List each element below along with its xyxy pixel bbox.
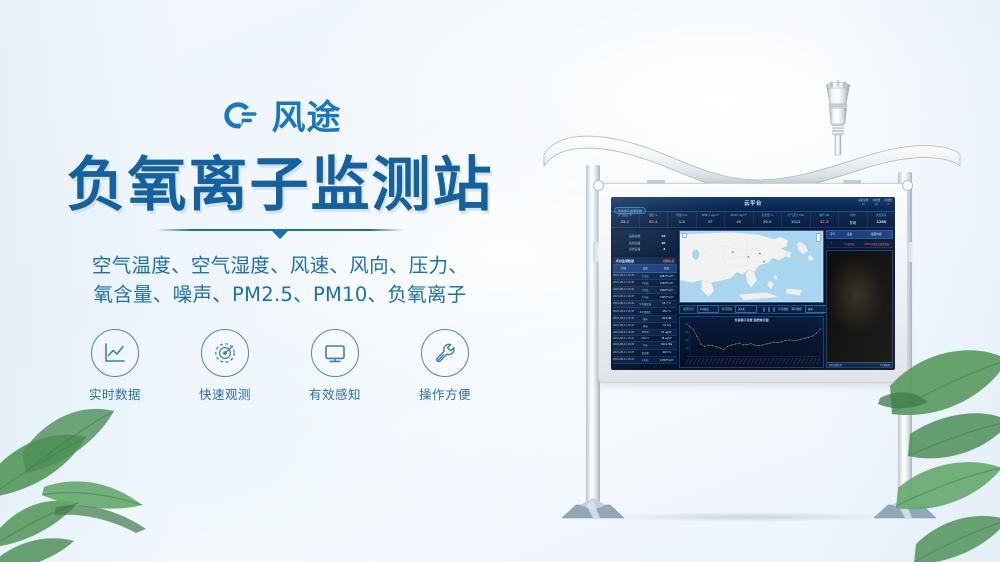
title-divider <box>156 228 404 242</box>
table-cell: 2021-08-11 10:25:02 <box>613 350 634 356</box>
map-zoom-controls[interactable] <box>816 233 821 242</box>
cabinet-hinge-right-icon <box>907 242 913 262</box>
svg-text:08-12 01:00: 08-12 01:00 <box>782 357 787 365</box>
feature-label: 实时数据 <box>84 384 146 403</box>
video-label-right: 1号摄像机 <box>880 363 890 367</box>
dashboard-title: 云平台 <box>744 199 762 207</box>
device-count-value: 2 <box>663 247 665 251</box>
dashboard-header-stats: 设备总数 12 在线数 10 离线数 2 <box>858 199 892 207</box>
dashboard-screen[interactable]: 云平台 设备总数 12 在线数 10 离线数 2 负氧离子监测 <box>611 197 895 370</box>
table-row[interactable]: 2021-08-11 10:35:022号站1194个/cm³ <box>613 280 677 287</box>
table-body[interactable]: 2021-08-11 10:36:021号站1287个/cm³2021-08-1… <box>613 273 677 369</box>
sensor-stat-name: 负氧离子 <box>868 214 896 218</box>
sensor-stat-name: 噪声 dB <box>811 214 839 218</box>
table-cell: 1305个/cm³ <box>656 294 677 300</box>
svg-text:08-11 12:00: 08-11 12:00 <box>732 357 737 365</box>
table-title-bar: 实时监测数据 报警信息 <box>613 257 677 265</box>
table-cell: 1号站 <box>634 294 655 300</box>
map-toolbar[interactable]: 监测点位 1号站点 时间范围 近7天 导出数据 刷新数据 更多 <box>679 305 823 314</box>
sensor-stat-value: 1286 <box>868 220 896 224</box>
china-map[interactable] <box>679 230 823 303</box>
svg-text:08-12 10:00: 08-12 10:00 <box>817 357 822 365</box>
table-cell: 46.8 dB <box>656 316 677 322</box>
svg-text:08-12 08:00: 08-12 08:00 <box>809 357 814 365</box>
cabinet-hinge-left-icon <box>593 242 599 262</box>
alarm-cell: PM10浓度超过报警阈值 <box>861 241 893 247</box>
feature-label: 操作方便 <box>414 384 476 403</box>
feature-circle <box>201 329 249 377</box>
sensor-stat-name: 风向 <box>839 214 867 218</box>
sensor-stat: 空气温度 ℃23.1 <box>611 212 640 227</box>
sensor-stat-name: 氧含量 % <box>754 214 782 218</box>
sensor-stat-value: 48 <box>725 220 753 224</box>
sensor-stat-name: PM2.5 ug/m³ <box>697 214 725 218</box>
svg-text:08-12 06:00: 08-12 06:00 <box>801 357 806 365</box>
table-cell: 3号站 <box>634 287 655 293</box>
svg-text:08-11 22:00: 08-11 22:00 <box>770 357 775 365</box>
header-stat: 在线数 10 <box>872 199 880 207</box>
sensor-stat: 大气压力 hPa1012 <box>782 212 811 227</box>
alarm-table-header: 序号设备报警内容 <box>826 230 893 239</box>
export-action[interactable]: 导出数据 <box>778 307 788 311</box>
svg-text:08-11 01:00: 08-11 01:00 <box>689 357 694 365</box>
svg-text:08-11 07:00: 08-11 07:00 <box>713 357 718 365</box>
svg-text:08-11 09:00: 08-11 09:00 <box>720 357 725 365</box>
alarm-column-header: 报警内容 <box>861 231 892 238</box>
device-count-value: 12 <box>661 234 665 238</box>
header-stat-value: 12 <box>858 203 868 207</box>
svg-text:08-11 23:00: 08-11 23:00 <box>774 357 779 365</box>
feature-list: 实时数据 快速观测 有效感知 <box>0 329 560 403</box>
svg-text:08-11 15:00: 08-11 15:00 <box>743 357 748 365</box>
svg-text:500: 500 <box>686 347 688 349</box>
realtime-data-table-panel[interactable]: 实时监测数据 报警信息 时间设备数值 2021-08-11 10:36:021号… <box>613 257 677 368</box>
feature-label: 有效感知 <box>304 384 366 403</box>
sensor-stat-strip: 空气温度 ℃23.1湿度 %62.4风速 m/s1.8PM2.5 ug/m³27… <box>611 212 895 228</box>
table-cell: 气压 <box>634 342 655 348</box>
feature-circle <box>91 329 139 377</box>
table-cell: 2021-08-11 10:34:02 <box>613 287 634 293</box>
divider-triangle-icon <box>271 230 289 239</box>
feature-item-fast-observation[interactable]: 快速观测 <box>194 329 256 403</box>
svg-text:08-11 03:00: 08-11 03:00 <box>697 357 702 365</box>
table-cell: 氧含量 <box>634 350 655 356</box>
svg-text:08-11 16:00: 08-11 16:00 <box>747 357 752 365</box>
dashboard-header: 云平台 设备总数 12 在线数 10 离线数 2 <box>611 197 895 212</box>
settings-button[interactable] <box>773 307 775 312</box>
svg-text:08-12 02:00: 08-12 02:00 <box>786 357 791 365</box>
table-row[interactable]: 2021-08-11 10:30:02噪声46.8 dB <box>613 316 677 323</box>
alarm-row[interactable]: 13号监测站PM10浓度超过报警阈值 <box>826 241 893 248</box>
monitoring-station: 云平台 设备总数 12 在线数 10 离线数 2 负氧离子监测 <box>520 60 980 530</box>
svg-text:08-11 06:00: 08-11 06:00 <box>709 357 714 365</box>
device-count-label: 设备总数 <box>629 234 641 238</box>
svg-text:08-11 00:00: 08-11 00:00 <box>686 357 691 365</box>
alarm-column-header: 序号 <box>827 231 839 238</box>
table-cell: 1194个/cm³ <box>656 280 677 286</box>
video-label-left: 实时视频监控 <box>829 363 842 367</box>
brand-logo: 风途 <box>0 96 560 140</box>
sensor-stat-value: 27 <box>697 220 725 224</box>
table-title: 实时监测数据 <box>616 259 634 263</box>
svg-text:08-12 00:00: 08-12 00:00 <box>778 357 783 365</box>
sensor-stat: 负氧离子1286 <box>868 212 896 227</box>
chart-plot: 050010001500200008-11 00:0008-11 01:0008… <box>680 317 822 367</box>
refresh-action[interactable]: 刷新数据 <box>792 307 802 311</box>
feature-item-effective-sensing[interactable]: 有效感知 <box>304 329 366 403</box>
device-count-label: 在线设备 <box>629 241 641 245</box>
table-cell: 1号站 <box>634 357 655 363</box>
header-stat: 离线数 2 <box>884 199 892 207</box>
table-cell: 噪声 <box>634 316 655 322</box>
dashboard-body: 设备总数12在线设备10离线设备2 实时监测数据 报警信息 时间设备数值 202… <box>611 228 895 370</box>
mount-ring-left-icon <box>593 180 604 191</box>
feature-item-realtime-data[interactable]: 实时数据 <box>84 329 146 403</box>
alarm-column-header: 设备 <box>839 231 861 238</box>
mount-tab-icon <box>647 180 665 184</box>
svg-text:0: 0 <box>688 356 689 358</box>
svg-text:08-12 07:00: 08-12 07:00 <box>805 357 810 365</box>
svg-text:08-11 13:00: 08-11 13:00 <box>736 357 741 365</box>
svg-text:08-11 10:00: 08-11 10:00 <box>724 357 729 365</box>
sensor-stat-name: 湿度 % <box>640 214 668 218</box>
marketing-text-panel: 风途 负氧离子监测站 空气温度、空气湿度、风速、风向、压力、 氧含量、噪声、PM… <box>0 96 560 403</box>
site-select[interactable]: 1号站点 <box>697 305 719 312</box>
site-select-label: 监测点位 <box>683 307 693 311</box>
alarm-table-body[interactable]: 13号监测站PM10浓度超过报警阈值 <box>826 241 893 248</box>
table-cell: 风速 <box>634 323 655 329</box>
svg-text:08-11 14:00: 08-11 14:00 <box>740 357 745 365</box>
table-cell: 2021-08-11 10:32:02 <box>613 301 634 307</box>
table-cell: 2021-08-11 10:33:02 <box>613 294 634 300</box>
list-view-button[interactable] <box>768 307 770 312</box>
header-stat-value: 10 <box>872 203 880 207</box>
table-cell: 1.6 m/s <box>656 323 677 329</box>
dashboard-center-column: 监测点位 1号站点 时间范围 近7天 导出数据 刷新数据 更多 负氧离子浓度 趋… <box>679 230 823 368</box>
sensor-stat-value: 1012 <box>782 220 810 224</box>
svg-text:2000: 2000 <box>686 323 689 325</box>
video-status-bar: 实时视频监控 1号摄像机 <box>827 362 892 367</box>
svg-text:08-11 17:00: 08-11 17:00 <box>751 357 756 365</box>
table-cell: 2021-08-11 10:24:02 <box>613 357 634 363</box>
table-row[interactable]: 2021-08-11 10:33:021号站1305个/cm³ <box>613 294 677 301</box>
svg-text:08-11 04:00: 08-11 04:00 <box>701 357 706 365</box>
sensor-stat-value: 1.8 <box>668 220 696 224</box>
dashboard-right-column: 序号设备报警内容 13号监测站PM10浓度超过报警阈值 实时视频监控 1号摄像机 <box>826 230 893 368</box>
table-row[interactable]: 2021-08-11 10:36:021号站1287个/cm³ <box>613 273 677 280</box>
svg-text:08-12 03:00: 08-12 03:00 <box>790 357 795 365</box>
range-select-label: 时间范围 <box>722 307 732 311</box>
table-cell: 2021-08-11 10:30:02 <box>613 316 634 322</box>
device-count-label: 离线设备 <box>629 247 641 251</box>
table-row[interactable]: 2021-08-11 10:34:023号站1420个/cm³ <box>613 287 677 294</box>
svg-text:08-12 09:00: 08-12 09:00 <box>813 357 818 365</box>
table-header-row: 时间设备数值 <box>613 265 677 272</box>
svg-text:08-11 19:00: 08-11 19:00 <box>759 357 764 365</box>
table-row[interactable]: 2021-08-11 10:24:021号站1176个/cm³ <box>613 357 677 364</box>
sensor-stat-name: PM10 ug/m³ <box>725 214 753 218</box>
display-cabinet: 云平台 设备总数 12 在线数 10 离线数 2 负氧离子监测 <box>598 183 908 383</box>
table-cell: 平均值区域 <box>634 301 655 307</box>
device-count-value: 10 <box>661 241 665 245</box>
table-cell: 2021-08-11 10:28:02 <box>613 330 634 335</box>
wind-g-logo-icon <box>219 100 263 136</box>
table-row[interactable]: 2021-08-11 10:29:02风速1.6 m/s <box>613 323 677 330</box>
sensor-stat-name: 风速 m/s <box>668 214 696 218</box>
svg-text:08-12 05:00: 08-12 05:00 <box>797 357 802 365</box>
table-row[interactable]: 2021-08-11 10:31:024号监测点48.2 % <box>613 308 677 315</box>
feature-circle <box>311 329 359 377</box>
svg-text:08-11 20:00: 08-11 20:00 <box>763 357 768 365</box>
sensor-stat-value: 47.2 <box>811 220 839 224</box>
header-stat: 设备总数 12 <box>858 199 868 207</box>
alert-label: 报警信息 <box>663 259 674 263</box>
svg-text:08-11 21:00: 08-11 21:00 <box>766 357 771 365</box>
svg-text:08-11 05:00: 08-11 05:00 <box>705 357 710 365</box>
sensor-stat: 风速 m/s1.8 <box>668 212 697 227</box>
table-column-header: 数值 <box>656 265 677 271</box>
brand-name: 风途 <box>272 101 342 135</box>
sensor-stat: 湿度 %62.4 <box>640 212 669 227</box>
table-cell: 2021-08-11 10:35:02 <box>613 280 634 286</box>
sensor-stat: PM2.5 ug/m³27 <box>697 212 726 227</box>
svg-text:08-11 08:00: 08-11 08:00 <box>716 357 721 365</box>
sensor-list: 空气温度、空气湿度、风速、风向、压力、 氧含量、噪声、PM2.5、PM10、负氧… <box>0 251 560 310</box>
trend-chart[interactable]: 负氧离子浓度 趋势统计图 050010001500200008-11 00:00… <box>679 316 823 368</box>
sensor-stat: 噪声 dB47.2 <box>811 212 840 227</box>
sensor-stat-name: 空气温度 ℃ <box>611 214 639 218</box>
feature-circle <box>421 329 469 377</box>
sensor-stat: PM10 ug/m³48 <box>725 212 754 227</box>
sensor-stat-value: 62.4 <box>640 220 668 224</box>
sensor-list-line-2: 氧含量、噪声、PM2.5、PM10、负氧离子 <box>0 280 560 310</box>
range-select[interactable]: 近7天 <box>735 305 757 312</box>
radar-target-icon <box>212 340 238 366</box>
more-button[interactable]: 更多 <box>805 305 827 312</box>
svg-text:08-11 18:00: 08-11 18:00 <box>755 357 760 365</box>
table-cell: PM2.5 <box>634 336 655 341</box>
sensor-stat: 风向东南 <box>839 212 868 227</box>
svg-text:08-11 11:00: 08-11 11:00 <box>728 357 733 365</box>
table-row[interactable]: 2021-08-11 10:26:02气压1012 hPa <box>613 342 677 349</box>
table-cell: 1287个/cm³ <box>656 273 677 279</box>
table-cell: 2021-08-11 10:29:02 <box>613 323 634 329</box>
device-count-row: 离线设备2 <box>617 246 673 252</box>
table-cell: 2021-08-11 10:36:02 <box>613 273 634 279</box>
page-title: 负氧离子监测站 <box>0 154 560 217</box>
table-cell: 48.2 % <box>656 308 677 314</box>
feature-item-easy-operation[interactable]: 操作方便 <box>414 329 476 403</box>
table-column-header: 设备 <box>634 265 655 271</box>
header-stat-value: 2 <box>884 203 892 207</box>
alarm-cell: 3号监测站 <box>838 241 861 247</box>
table-cell: 1176个/cm³ <box>656 357 677 363</box>
table-cell: 2021-08-11 10:27:02 <box>613 336 634 341</box>
sensor-stat-name: 大气压力 hPa <box>782 214 810 218</box>
svg-text:1500: 1500 <box>686 331 689 333</box>
monitor-screen-icon <box>322 340 348 366</box>
sensor-list-line-1: 空气温度、空气湿度、风速、风向、压力、 <box>0 251 560 281</box>
table-cell: 1012 hPa <box>656 342 677 348</box>
grid-view-button[interactable] <box>763 307 765 312</box>
svg-text:08-12 04:00: 08-12 04:00 <box>793 357 798 365</box>
map-graphic <box>680 231 822 302</box>
device-count-panel: 设备总数12在线设备10离线设备2 <box>613 230 677 255</box>
svg-text:1000: 1000 <box>686 339 689 341</box>
table-cell: 1号站 <box>634 273 655 279</box>
ground-shadow <box>548 510 948 524</box>
table-cell: 2021-08-11 10:31:02 <box>613 308 634 314</box>
sensor-stat-value: 20.9 <box>754 220 782 224</box>
line-chart-icon <box>102 340 128 366</box>
sensor-stat-value: 23.1 <box>611 220 639 224</box>
table-cell: 28 ug/m³ <box>656 336 677 341</box>
table-row[interactable]: 2021-08-11 10:32:02平均值区域21.7 ℃ <box>613 301 677 308</box>
alarm-cell: 1 <box>826 241 838 247</box>
feature-label: 快速观测 <box>194 384 256 403</box>
table-cell: PM10 <box>634 330 655 335</box>
table-cell: 20.9 % <box>656 350 677 356</box>
video-monitor-panel[interactable]: 实时视频监控 1号摄像机 <box>826 250 893 368</box>
table-cell: 21.7 ℃ <box>656 301 677 307</box>
wrench-icon <box>432 340 458 366</box>
svg-text:08-11 02:00: 08-11 02:00 <box>693 357 698 365</box>
dashboard-left-column: 设备总数12在线设备10离线设备2 实时监测数据 报警信息 时间设备数值 202… <box>613 230 677 368</box>
table-cell: 2021-08-11 10:26:02 <box>613 342 634 348</box>
table-cell: 1420个/cm³ <box>656 287 677 293</box>
table-row[interactable]: 2021-08-11 10:25:02氧含量20.9 % <box>613 350 677 357</box>
sensor-stat-value: 东南 <box>839 220 867 225</box>
mount-ring-right-icon <box>902 180 913 191</box>
table-cell: 4号监测点 <box>634 308 655 314</box>
mount-tab-icon <box>843 180 861 184</box>
table-cell: 51 ug/m³ <box>656 330 677 335</box>
mount-tab-icon <box>745 180 763 184</box>
table-cell: 2号站 <box>634 280 655 286</box>
system-name-chip: 负氧离子监测系统 <box>614 207 646 214</box>
map-layers-button[interactable] <box>682 233 687 238</box>
table-column-header: 时间 <box>613 265 634 271</box>
sensor-stat: 氧含量 %20.9 <box>754 212 783 227</box>
